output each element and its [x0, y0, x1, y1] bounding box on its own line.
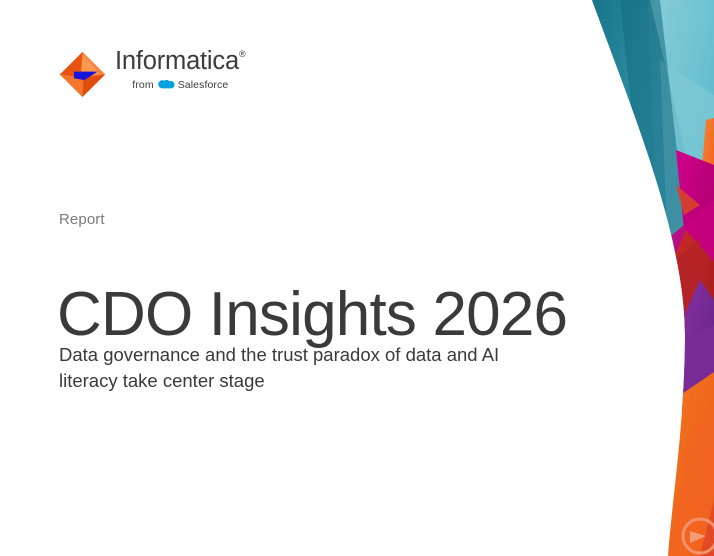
- informatica-diamond-logo-icon: [59, 51, 106, 98]
- byline-salesforce-label: Salesforce: [178, 79, 229, 91]
- informatica-swirl-watermark: [683, 500, 714, 556]
- page-subtitle: Data governance and the trust paradox of…: [59, 342, 529, 395]
- trademark-symbol: ®: [239, 49, 246, 59]
- byline-from-label: from: [132, 79, 153, 91]
- salesforce-byline: from Salesforce: [132, 79, 228, 91]
- wordmark-text: Informatica: [115, 47, 239, 75]
- salesforce-cloud-icon: [158, 79, 175, 90]
- informatica-wordmark: Informatica®: [115, 48, 246, 75]
- report-eyebrow-label: Report: [59, 211, 105, 228]
- report-cover-page: Informatica® from Salesforce Report CDO …: [0, 0, 714, 556]
- page-title: CDO Insights 2026: [57, 282, 567, 349]
- informatica-logo[interactable]: Informatica® from Salesforce: [59, 48, 246, 98]
